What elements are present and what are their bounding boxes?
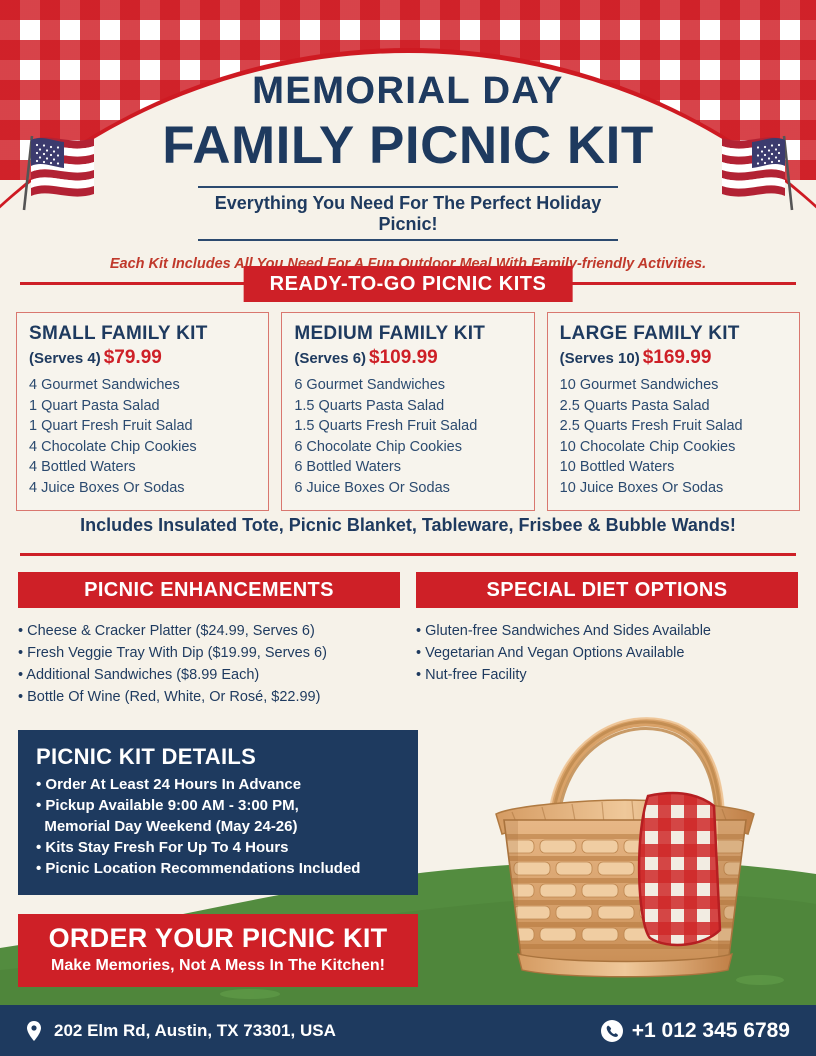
list-item: Memorial Day Weekend (May 24-26): [36, 816, 400, 837]
kit-card-medium[interactable]: MEDIUM FAMILY KIT (Serves 6)$109.99 6 Go…: [281, 312, 534, 511]
kits-band-title: READY-TO-GO PICNIC KITS: [244, 266, 573, 302]
kit-serves: (Serves 6): [294, 350, 366, 367]
footer-address[interactable]: 202 Elm Rd, Austin, TX 73301, USA: [22, 1019, 336, 1043]
includes-note: Includes Insulated Tote, Picnic Blanket,…: [0, 515, 816, 536]
kit-item-list: 10 Gourmet Sandwiches 2.5 Quarts Pasta S…: [560, 375, 787, 498]
list-item: • Pickup Available 9:00 AM - 3:00 PM,: [36, 795, 400, 816]
kit-price: $79.99: [104, 347, 162, 368]
diet-options-column: SPECIAL DIET OPTIONS • Gluten-free Sandw…: [416, 572, 798, 708]
kit-price: $169.99: [643, 347, 712, 368]
kit-item: 10 Chocolate Chip Cookies: [560, 437, 787, 458]
kit-item: 4 Gourmet Sandwiches: [29, 375, 256, 396]
title-line-1: MEMORIAL DAY: [0, 72, 816, 110]
footer-address-text: 202 Elm Rd, Austin, TX 73301, USA: [54, 1021, 336, 1041]
enhancements-column: PICNIC ENHANCEMENTS • Cheese & Cracker P…: [18, 572, 400, 708]
kit-item: 6 Bottled Waters: [294, 457, 521, 478]
kit-item: 2.5 Quarts Pasta Salad: [560, 396, 787, 417]
footer-phone-text: +1 012 345 6789: [632, 1019, 790, 1043]
list-item: • Bottle Of Wine (Red, White, Or Rosé, $…: [18, 686, 400, 708]
kit-item: 1 Quart Pasta Salad: [29, 396, 256, 417]
footer-phone[interactable]: +1 012 345 6789: [600, 1019, 790, 1043]
header-subtitle: Everything You Need For The Perfect Holi…: [198, 188, 618, 239]
map-pin-icon: [22, 1019, 46, 1043]
details-list: • Order At Least 24 Hours In Advance • P…: [36, 774, 400, 879]
kit-item: 6 Chocolate Chip Cookies: [294, 437, 521, 458]
usa-flag-icon: [706, 128, 802, 214]
enhancements-list: • Cheese & Cracker Platter ($24.99, Serv…: [18, 620, 400, 708]
kit-price: $109.99: [369, 347, 438, 368]
kit-item: 4 Chocolate Chip Cookies: [29, 437, 256, 458]
kit-cards: SMALL FAMILY KIT (Serves 4)$79.99 4 Gour…: [16, 312, 800, 511]
poster-footer: 202 Elm Rd, Austin, TX 73301, USA +1 012…: [0, 1005, 816, 1056]
kit-serves-price: (Serves 6)$109.99: [294, 347, 521, 369]
kit-item: 6 Gourmet Sandwiches: [294, 375, 521, 396]
kits-band: READY-TO-GO PICNIC KITS: [0, 266, 816, 300]
list-item: • Fresh Veggie Tray With Dip ($19.99, Se…: [18, 642, 400, 664]
kit-name: LARGE FAMILY KIT: [560, 323, 787, 345]
kit-card-large[interactable]: LARGE FAMILY KIT (Serves 10)$169.99 10 G…: [547, 312, 800, 511]
kit-item: 4 Bottled Waters: [29, 457, 256, 478]
poster-root: MEMORIAL DAY FAMILY PICNIC KIT Everythin…: [0, 0, 816, 1056]
diet-options-heading: SPECIAL DIET OPTIONS: [416, 572, 798, 608]
kit-item: 4 Juice Boxes Or Sodas: [29, 478, 256, 499]
list-item: • Order At Least 24 Hours In Advance: [36, 774, 400, 795]
kit-card-small[interactable]: SMALL FAMILY KIT (Serves 4)$79.99 4 Gour…: [16, 312, 269, 511]
details-heading: PICNIC KIT DETAILS: [36, 744, 400, 770]
kit-item: 1.5 Quarts Fresh Fruit Salad: [294, 416, 521, 437]
options-two-column: PICNIC ENHANCEMENTS • Cheese & Cracker P…: [18, 572, 798, 708]
kit-item: 1 Quart Fresh Fruit Salad: [29, 416, 256, 437]
list-item: • Kits Stay Fresh For Up To 4 Hours: [36, 837, 400, 858]
list-item: • Nut-free Facility: [416, 664, 798, 686]
diet-options-list: • Gluten-free Sandwiches And Sides Avail…: [416, 620, 798, 686]
picnic-basket-icon: [452, 688, 798, 998]
title-line-2: FAMILY PICNIC KIT: [0, 119, 816, 172]
kit-item-list: 4 Gourmet Sandwiches 1 Quart Pasta Salad…: [29, 375, 256, 498]
kit-item-list: 6 Gourmet Sandwiches 1.5 Quarts Pasta Sa…: [294, 375, 521, 498]
kit-item: 10 Juice Boxes Or Sodas: [560, 478, 787, 499]
kit-serves-price: (Serves 10)$169.99: [560, 347, 787, 369]
order-cta-banner[interactable]: ORDER YOUR PICNIC KIT Make Memories, Not…: [18, 914, 418, 987]
kit-serves: (Serves 4): [29, 350, 101, 367]
kit-name: MEDIUM FAMILY KIT: [294, 323, 521, 345]
kit-serves: (Serves 10): [560, 350, 640, 367]
section-divider-rule: [20, 553, 796, 556]
list-item: • Gluten-free Sandwiches And Sides Avail…: [416, 620, 798, 642]
picnic-kit-details-box: PICNIC KIT DETAILS • Order At Least 24 H…: [18, 730, 418, 895]
kit-item: 2.5 Quarts Fresh Fruit Salad: [560, 416, 787, 437]
list-item: • Cheese & Cracker Platter ($24.99, Serv…: [18, 620, 400, 642]
subtitle-rules: Everything You Need For The Perfect Holi…: [198, 186, 618, 241]
kit-item: 10 Gourmet Sandwiches: [560, 375, 787, 396]
list-item: • Vegetarian And Vegan Options Available: [416, 642, 798, 664]
kit-serves-price: (Serves 4)$79.99: [29, 347, 256, 369]
usa-flag-icon: [14, 128, 110, 214]
cta-subline: Make Memories, Not A Mess In The Kitchen…: [26, 957, 410, 975]
cta-headline: ORDER YOUR PICNIC KIT: [26, 924, 410, 954]
poster-header: MEMORIAL DAY FAMILY PICNIC KIT Everythin…: [0, 0, 816, 272]
list-item: • Picnic Location Recommendations Includ…: [36, 858, 400, 879]
kit-item: 10 Bottled Waters: [560, 457, 787, 478]
enhancements-heading: PICNIC ENHANCEMENTS: [18, 572, 400, 608]
kit-item: 6 Juice Boxes Or Sodas: [294, 478, 521, 499]
kit-item: 1.5 Quarts Pasta Salad: [294, 396, 521, 417]
phone-icon: [600, 1019, 624, 1043]
kit-name: SMALL FAMILY KIT: [29, 323, 256, 345]
list-item: • Additional Sandwiches ($8.99 Each): [18, 664, 400, 686]
rule-bottom: [198, 239, 618, 241]
